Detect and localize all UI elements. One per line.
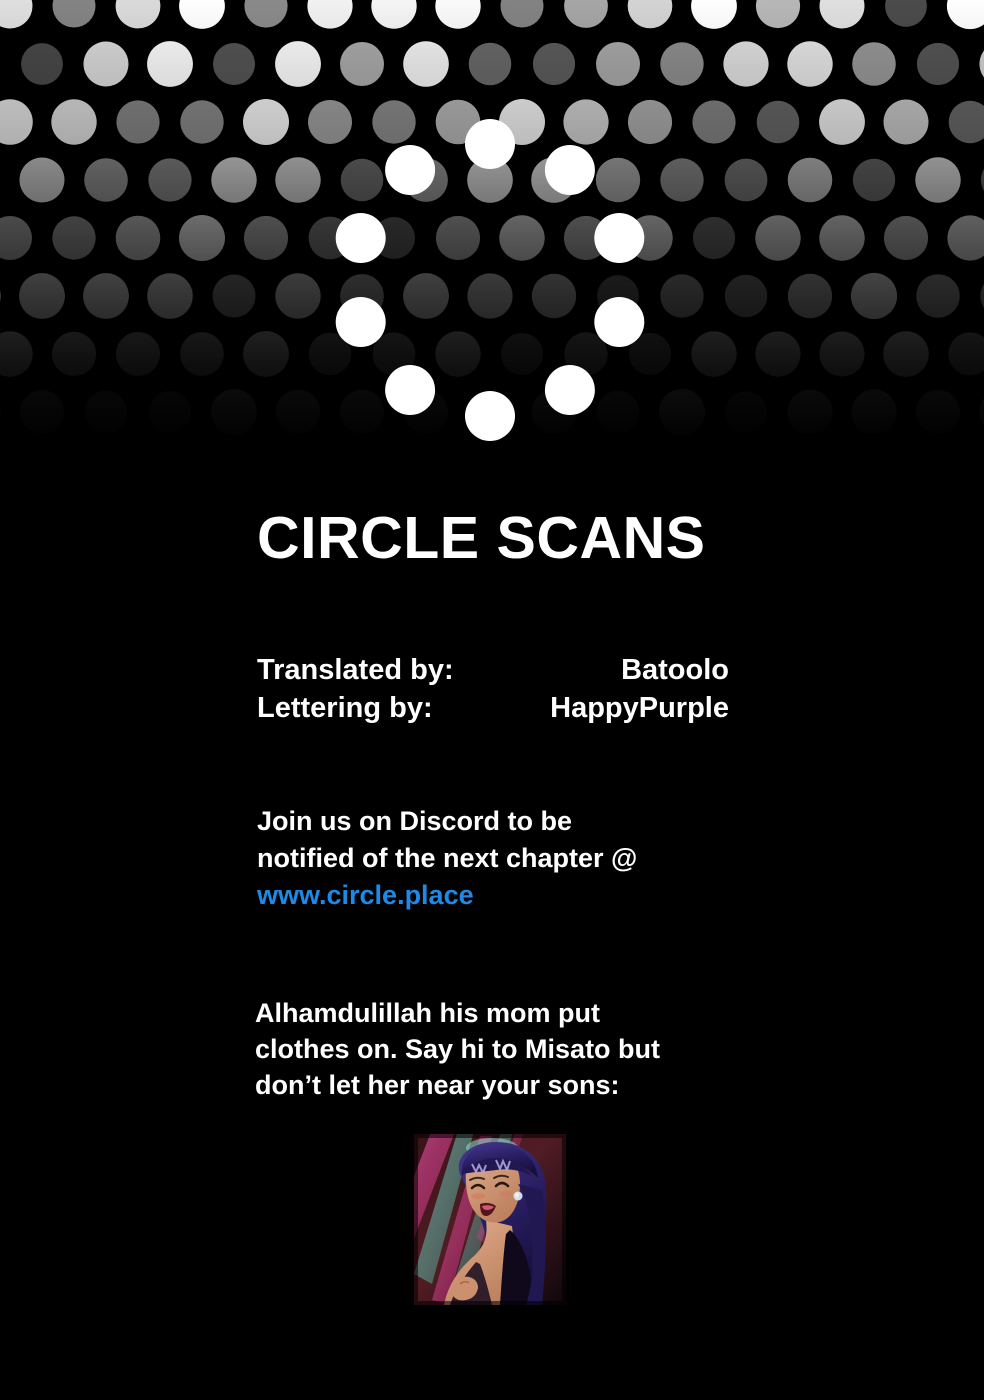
notice-line-2: notified of the next chapter @: [257, 843, 637, 873]
footnote-line-3: don’t let her near your sons:: [255, 1070, 620, 1100]
halftone-dot-pattern: [0, 0, 984, 470]
credit-value-lettering: HappyPurple: [550, 689, 729, 727]
footnote-line-1: Alhamdulillah his mom put: [255, 998, 600, 1028]
credits-block: Translated by: Batoolo Lettering by: Hap…: [257, 651, 729, 727]
credit-value-translated: Batoolo: [621, 651, 729, 689]
misato-anime-thumbnail: [414, 1134, 566, 1305]
credit-row-lettering: Lettering by: HappyPurple: [257, 689, 729, 727]
circle-place-link[interactable]: www.circle.place: [257, 877, 474, 914]
discord-notice: Join us on Discord to be notified of the…: [257, 803, 727, 914]
credit-label-translated: Translated by:: [257, 651, 454, 689]
credit-row-translated: Translated by: Batoolo: [257, 651, 729, 689]
brand-title: CIRCLE SCANS: [257, 509, 706, 568]
footnote-line-2: clothes on. Say hi to Misato but: [255, 1034, 660, 1064]
credits-page: CIRCLE SCANS Translated by: Batoolo Lett…: [0, 0, 984, 1400]
credit-label-lettering: Lettering by:: [257, 689, 433, 727]
notice-line-1: Join us on Discord to be: [257, 806, 572, 836]
translator-footnote: Alhamdulillah his mom put clothes on. Sa…: [255, 995, 745, 1103]
